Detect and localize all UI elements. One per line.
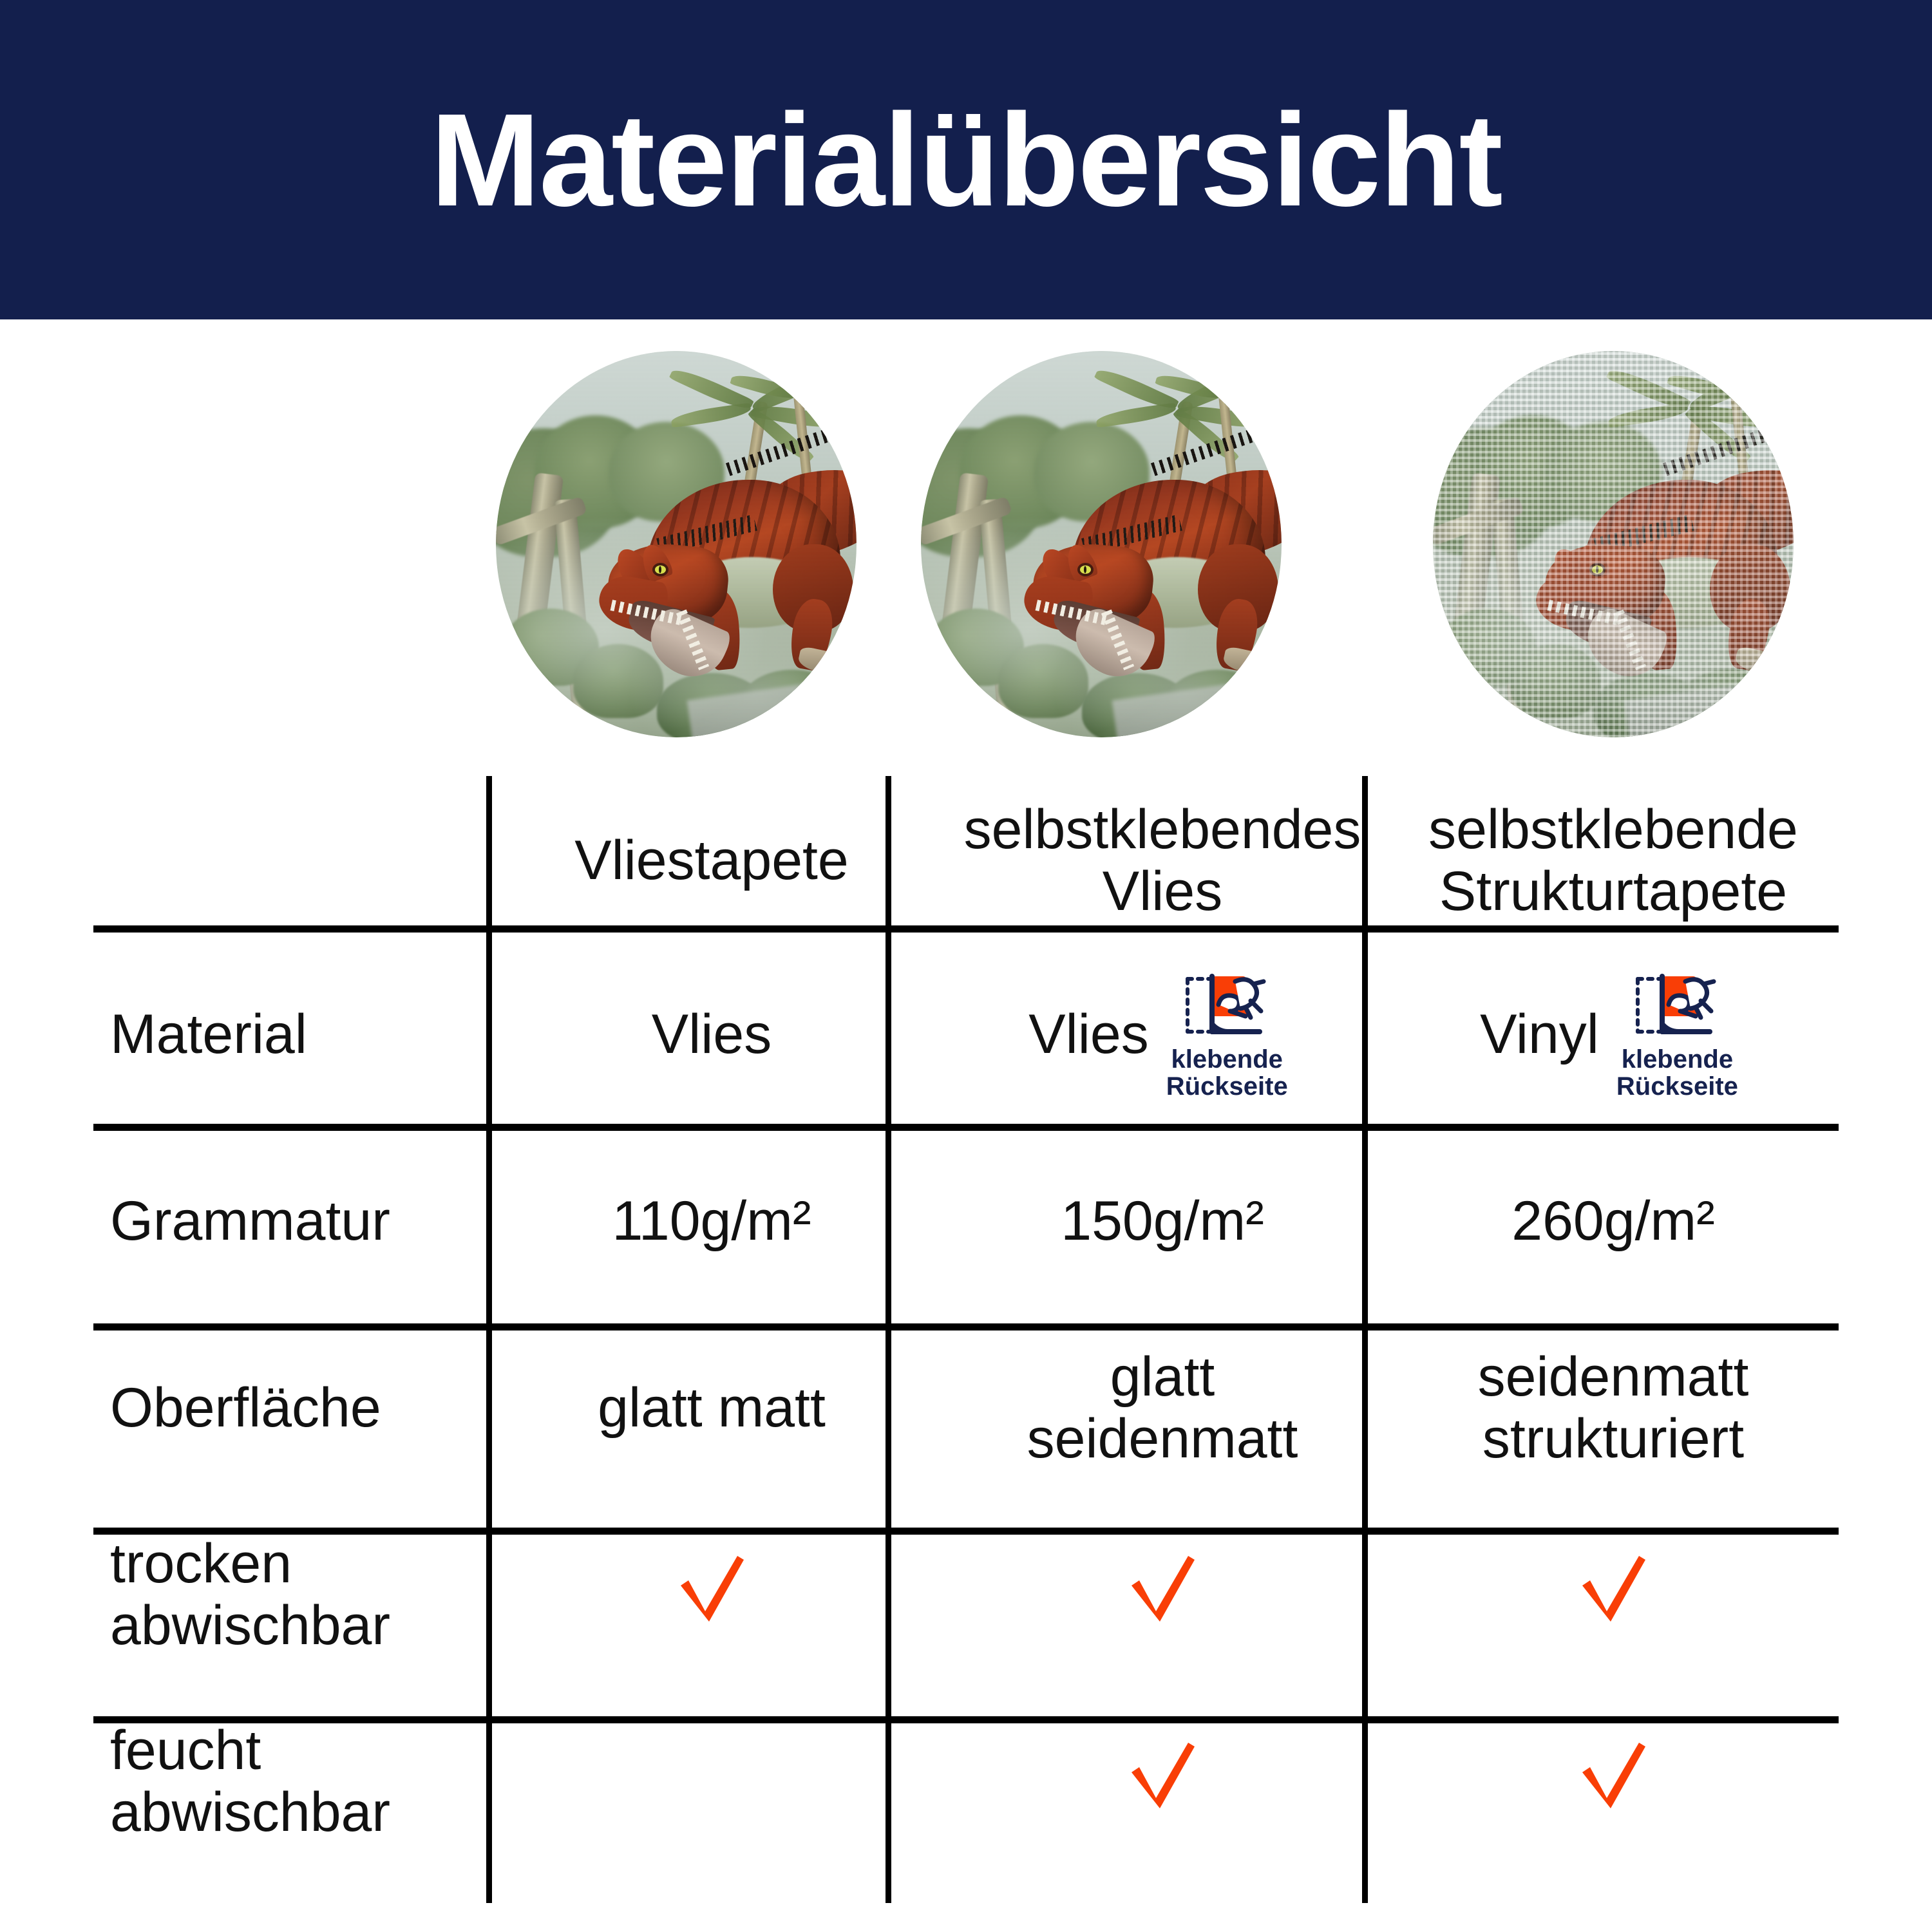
header-cell-vliestapete: Vliestapete	[486, 776, 937, 941]
table-row-trocken-abwischbar: trocken abwischbar	[93, 1501, 1839, 1688]
table-row-feucht-abwischbar: feucht abwischbar	[93, 1688, 1839, 1875]
table-header-row: Vliestapete selbstklebendes Vlies selbst…	[93, 776, 1839, 941]
row-label-material: Material	[93, 941, 486, 1128]
cell-oberflaeche-selbstklebende-strukturtapete: seidenmatt strukturiert	[1388, 1314, 1839, 1501]
table-row-oberflaeche: Oberfläche glatt matt glatt seidenmatt s…	[93, 1314, 1839, 1501]
table-row-grammatur: Grammatur 110g/m² 150g/m² 260g/m²	[93, 1128, 1839, 1314]
cell-feucht-selbstklebendes-vlies	[937, 1688, 1388, 1875]
dinosaur-illustration	[1433, 351, 1794, 737]
cell-feucht-selbstklebende-strukturtapete	[1388, 1688, 1839, 1875]
header-cell-empty	[93, 776, 486, 941]
cell-trocken-selbstklebende-strukturtapete	[1388, 1501, 1839, 1688]
row-label-oberflaeche: Oberfläche	[93, 1314, 486, 1501]
page-title: Materialübersicht	[430, 94, 1501, 226]
cell-value: Vinyl	[1480, 1003, 1599, 1065]
dinosaur-illustration	[921, 351, 1282, 737]
header-label: selbstklebende Strukturtapete	[1428, 799, 1798, 922]
badge-caption: klebendeRückseite	[1616, 1046, 1738, 1101]
adhesive-backing-icon	[1179, 969, 1275, 1043]
cell-material-selbstklebendes-vlies: Vlies	[937, 941, 1388, 1128]
cell-grammatur-selbstklebende-strukturtapete: 260g/m²	[1388, 1128, 1839, 1314]
adhesive-backing-badge: klebendeRückseite	[1158, 969, 1296, 1101]
header-cell-selbstklebendes-vlies: selbstklebendes Vlies	[937, 776, 1388, 941]
row-label-feucht-abwischbar: feucht abwischbar	[93, 1688, 486, 1875]
cell-material-vliestapete: Vlies	[486, 941, 937, 1128]
dinosaur-illustration	[496, 351, 857, 737]
check-icon	[673, 1552, 750, 1624]
cell-grammatur-selbstklebendes-vlies: 150g/m²	[937, 1128, 1388, 1314]
check-icon	[1124, 1552, 1201, 1624]
cell-value: Vlies	[1028, 1003, 1148, 1065]
cell-feucht-vliestapete	[486, 1688, 937, 1875]
sample-circle-selbstklebendes-vlies	[921, 351, 1282, 737]
header-label: Vliestapete	[574, 829, 849, 891]
check-icon	[1575, 1739, 1652, 1811]
cell-grammatur-vliestapete: 110g/m²	[486, 1128, 937, 1314]
header-cell-selbstklebende-strukturtapete: selbstklebende Strukturtapete	[1388, 776, 1839, 941]
adhesive-backing-badge: klebendeRückseite	[1608, 969, 1747, 1101]
cell-value: Vlies	[652, 1003, 772, 1065]
material-comparison-table: Vliestapete selbstklebendes Vlies selbst…	[93, 776, 1839, 1875]
cell-oberflaeche-selbstklebendes-vlies: glatt seidenmatt	[937, 1314, 1388, 1501]
sample-circle-selbstklebende-strukturtapete	[1433, 351, 1794, 737]
row-label-grammatur: Grammatur	[93, 1128, 486, 1314]
row-label-trocken-abwischbar: trocken abwischbar	[93, 1501, 486, 1688]
cell-trocken-vliestapete	[486, 1501, 937, 1688]
cell-material-selbstklebende-strukturtapete: Vinyl	[1388, 941, 1839, 1128]
cell-oberflaeche-vliestapete: glatt matt	[486, 1314, 937, 1501]
sample-circle-vliestapete	[496, 351, 857, 737]
cell-trocken-selbstklebendes-vlies	[937, 1501, 1388, 1688]
header-banner: Materialübersicht	[0, 0, 1932, 319]
check-icon	[1124, 1739, 1201, 1811]
adhesive-backing-icon	[1629, 969, 1725, 1043]
check-icon	[1575, 1552, 1652, 1624]
header-label: selbstklebendes Vlies	[964, 799, 1361, 922]
badge-caption: klebendeRückseite	[1166, 1046, 1288, 1101]
table-row-material: Material Vlies Vlies	[93, 941, 1839, 1128]
